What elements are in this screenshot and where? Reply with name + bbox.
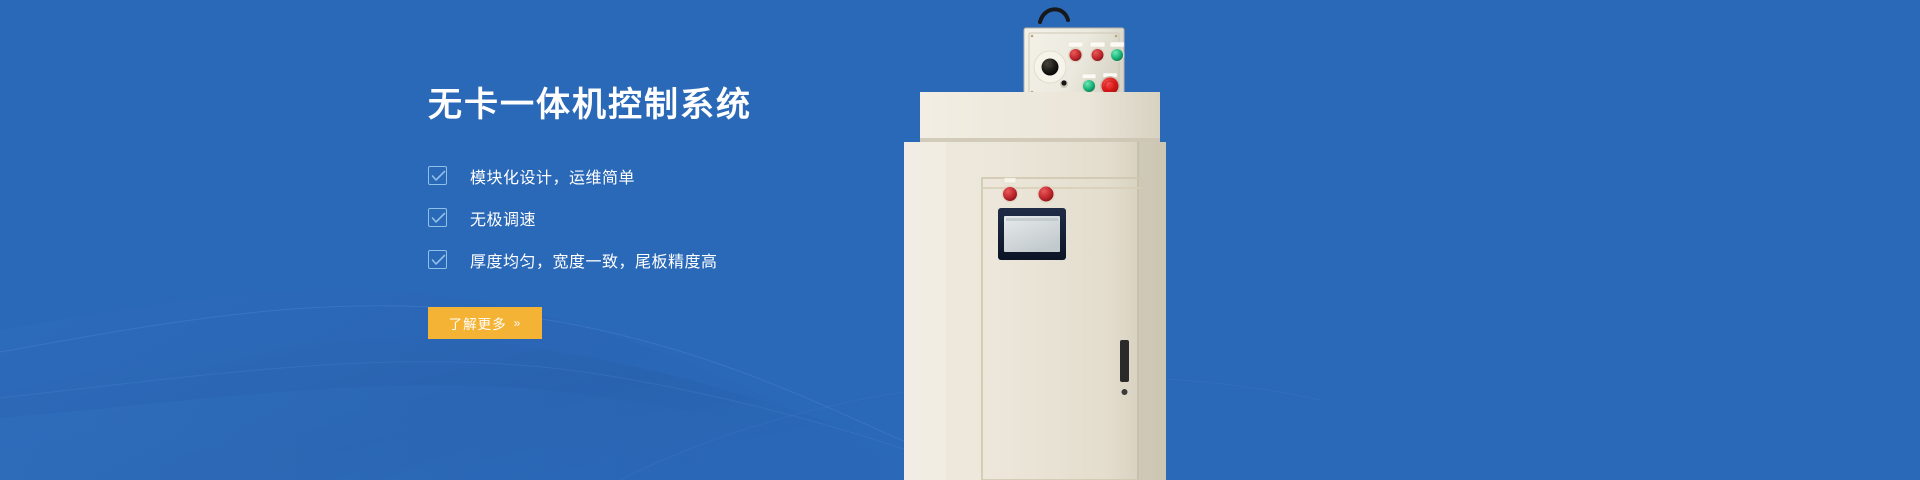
- power-cable: [1040, 9, 1068, 22]
- list-item: 无极调速: [428, 207, 1048, 229]
- hero-content: 无卡一体机控制系统 模块化设计，运维简单 无极调速: [428, 84, 1048, 339]
- learn-more-button[interactable]: 了解更多 »: [428, 307, 542, 339]
- checkbox-checked-icon: [428, 208, 447, 227]
- cabinet-door-handle[interactable]: [1120, 340, 1129, 382]
- checkbox-checked-icon: [428, 250, 447, 269]
- feature-list: 模块化设计，运维简单 无极调速 厚度均匀，宽度一致，尾板精度高: [428, 165, 1048, 271]
- learn-more-label: 了解更多: [449, 313, 507, 333]
- list-item: 模块化设计，运维简单: [428, 165, 1048, 187]
- hero-banner: 无卡一体机控制系统 模块化设计，运维简单 无极调速: [0, 0, 1920, 480]
- panel-screw: [1031, 35, 1034, 38]
- list-item: 厚度均匀，宽度一致，尾板精度高: [428, 249, 1048, 271]
- chevron-right-icon: »: [514, 316, 522, 330]
- cabinet-door-lock[interactable]: [1122, 389, 1128, 395]
- page-title: 无卡一体机控制系统: [428, 84, 1048, 127]
- knob-pointer: [1049, 60, 1052, 68]
- panel-screw: [1115, 35, 1118, 38]
- indicator-button-green-2[interactable]: [1082, 74, 1097, 94]
- indicator-button-green-1[interactable]: [1110, 42, 1125, 63]
- feature-label: 模块化设计，运维简单: [470, 164, 635, 188]
- feature-label: 厚度均匀，宽度一致，尾板精度高: [470, 248, 718, 272]
- feature-label: 无极调速: [470, 206, 536, 230]
- indicator-button-red-1[interactable]: [1068, 42, 1083, 63]
- indicator-button-red-2[interactable]: [1090, 42, 1105, 63]
- toggle-switch-black[interactable]: [1060, 80, 1068, 88]
- checkbox-checked-icon: [428, 166, 447, 185]
